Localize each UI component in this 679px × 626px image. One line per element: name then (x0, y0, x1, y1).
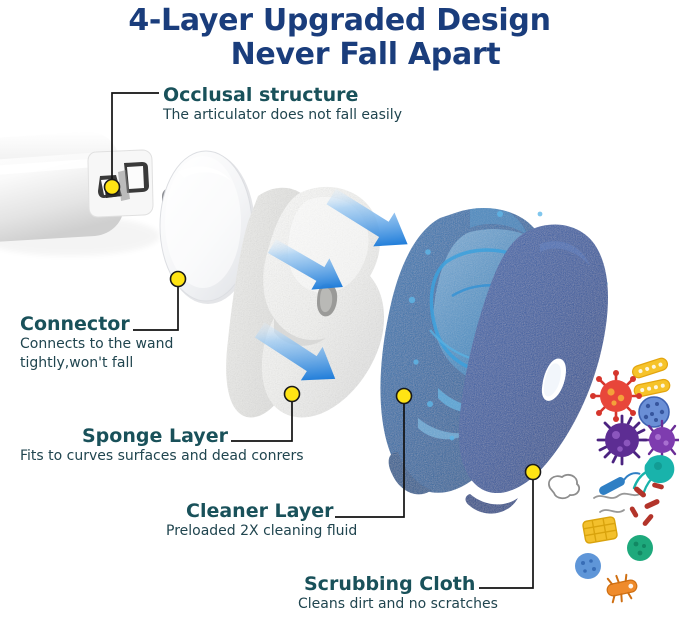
callout-scrubbing: Scrubbing Cloth Cleans dirt and no scrat… (280, 573, 498, 614)
callout-connector-subtitle-line-2: tightly,won't fall (20, 354, 173, 373)
callout-marker-cleaner (397, 389, 412, 404)
callout-marker-sponge (285, 387, 300, 402)
callout-connector-title: Connector (20, 313, 173, 335)
leader-scrubbing (479, 472, 533, 588)
leader-cleaner (335, 396, 404, 517)
callout-cleaner: Cleaner Layer Preloaded 2X cleaning flui… (160, 500, 357, 541)
callout-occlusal: Occlusal structure The articulator does … (163, 84, 402, 125)
callout-scrubbing-subtitle: Cleans dirt and no scratches (280, 595, 498, 614)
callout-marker-occlusal (105, 180, 120, 195)
callout-sponge-title: Sponge Layer (20, 425, 304, 447)
callout-occlusal-subtitle: The articulator does not fall easily (163, 106, 402, 125)
callout-sponge: Sponge Layer Fits to curves surfaces and… (20, 425, 304, 466)
infographic-canvas: 4-Layer Upgraded Design Never Fall Apart… (0, 0, 679, 626)
callout-marker-scrubbing (526, 465, 541, 480)
callout-marker-connector (171, 272, 186, 287)
callout-sponge-subtitle: Fits to curves surfaces and dead conrers (20, 447, 304, 466)
callout-occlusal-title: Occlusal structure (163, 84, 402, 106)
callout-connector-subtitle-line-1: Connects to the wand (20, 335, 173, 354)
callout-cleaner-title: Cleaner Layer (160, 500, 357, 522)
callout-cleaner-subtitle: Preloaded 2X cleaning fluid (160, 522, 357, 541)
leader-occlusal (112, 93, 159, 187)
callout-connector: Connector Connects to the wand tightly,w… (20, 313, 173, 373)
callout-scrubbing-title: Scrubbing Cloth (280, 573, 498, 595)
